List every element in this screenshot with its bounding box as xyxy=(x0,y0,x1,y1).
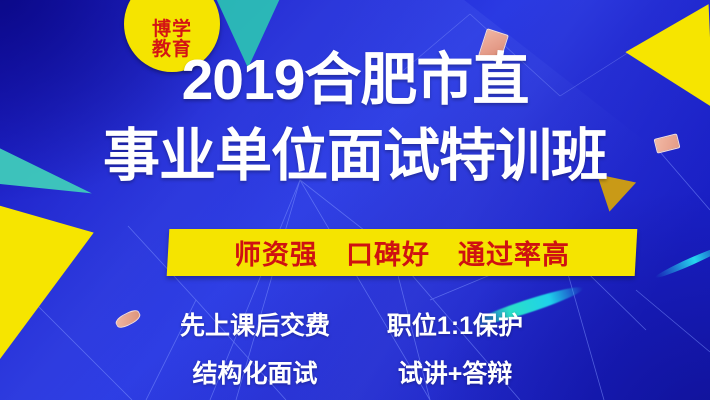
headline-line-1: 2019合肥市直 xyxy=(0,52,710,109)
feature-item: 试讲+答辩 xyxy=(355,354,555,390)
feature-item: 结构化面试 xyxy=(155,354,355,390)
highlight-band: 师资强 口碑好 通过率高 xyxy=(167,229,638,276)
feature-item: 职位1:1保护 xyxy=(355,306,555,342)
feature-row: 先上课后交费 职位1:1保护 xyxy=(0,306,710,342)
feature-row: 结构化面试 试讲+答辩 xyxy=(0,354,710,390)
promo-banner: 博学 教育 2019合肥市直 事业单位面试特训班 师资强 口碑好 通过率高 先上… xyxy=(0,0,710,400)
headline-line-2: 事业单位面试特训班 xyxy=(0,128,710,185)
highlight-band-text: 师资强 口碑好 通过率高 xyxy=(234,233,570,272)
feature-item: 先上课后交费 xyxy=(155,306,355,342)
feature-list: 先上课后交费 职位1:1保护 结构化面试 试讲+答辩 xyxy=(0,306,710,400)
headline-block: 2019合肥市直 事业单位面试特训班 xyxy=(0,52,710,185)
logo-line-1: 博学 xyxy=(152,20,192,41)
